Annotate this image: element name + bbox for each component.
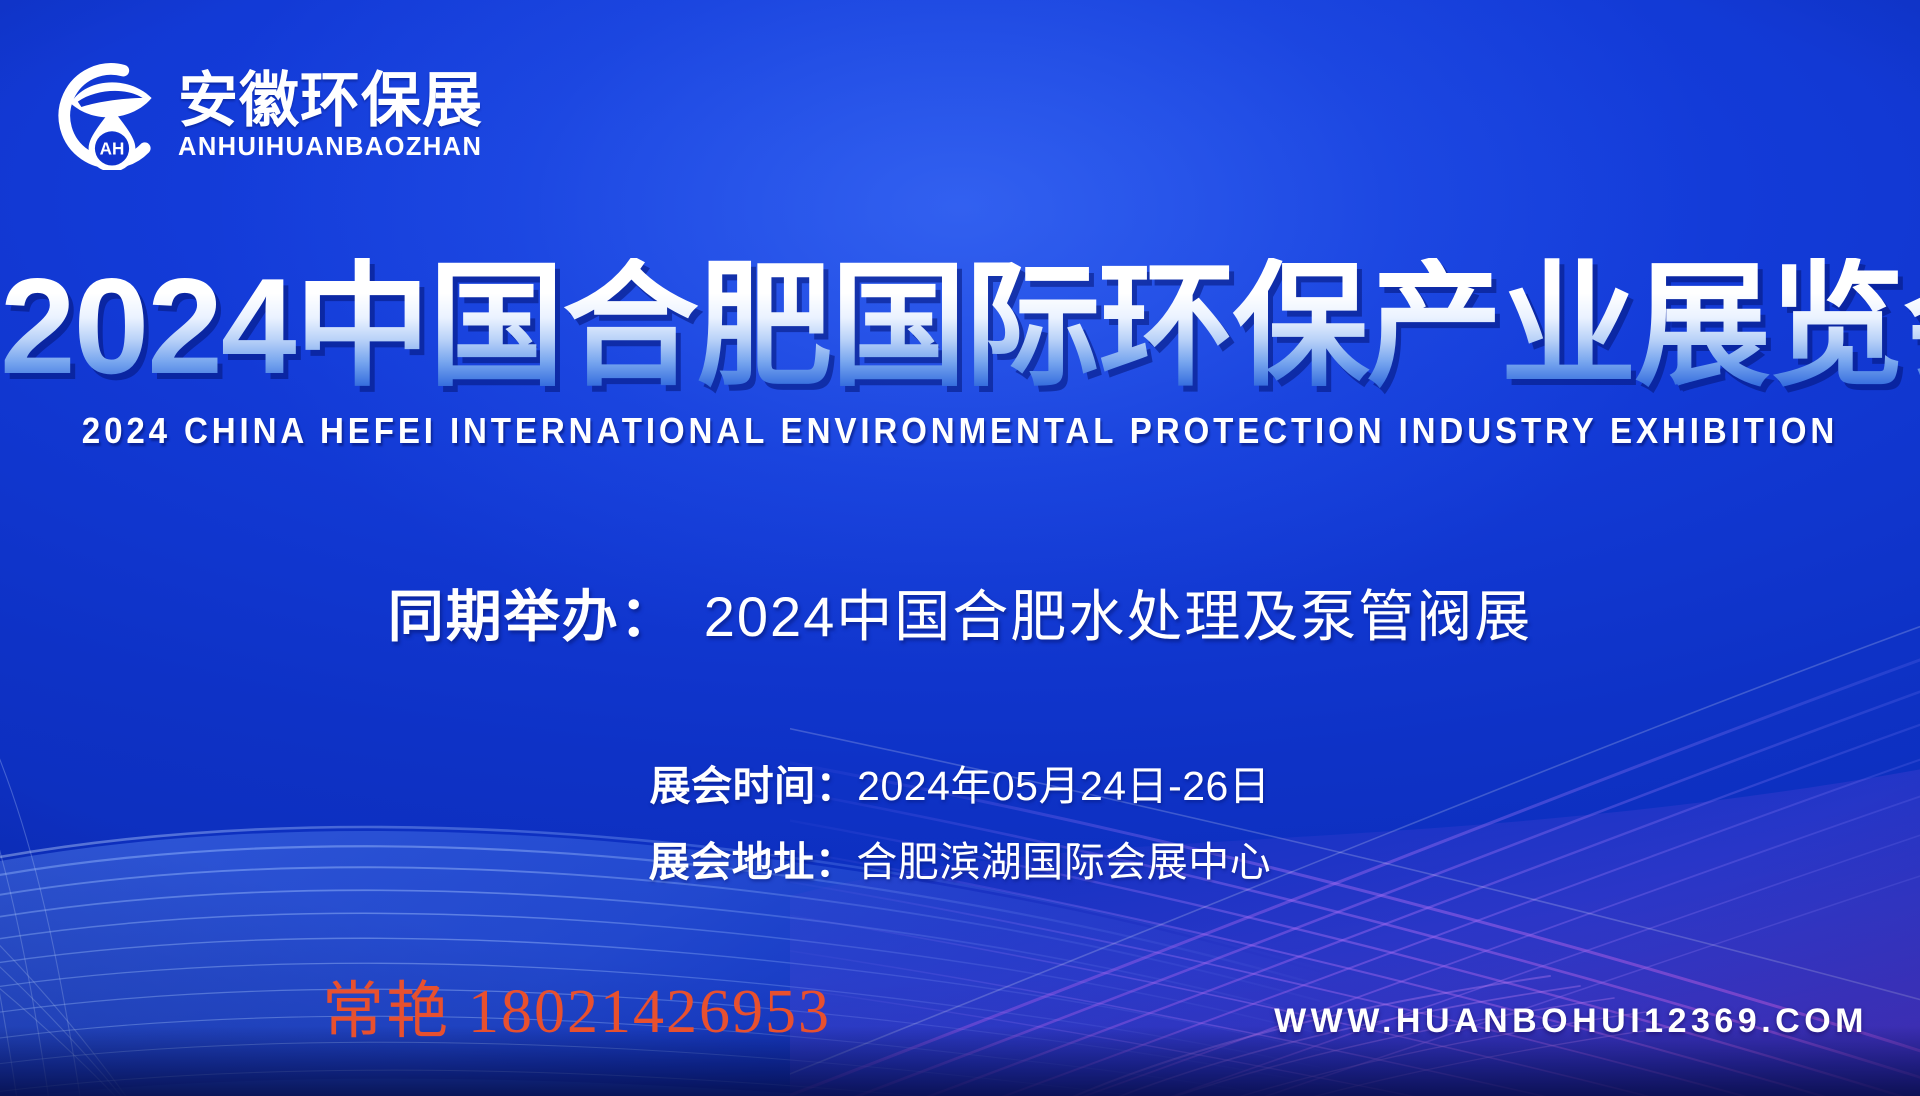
event-date-value: 2024年05月24日-26日 (857, 763, 1270, 809)
concurrent-event-value: 2024中国合肥水处理及泵管阀展 (704, 585, 1533, 648)
page-title-english: 2024 CHINA HEFEI INTERNATIONAL ENVIRONME… (77, 410, 1843, 452)
event-venue-value: 合肥滨湖国际会展中心 (856, 839, 1271, 885)
brand-name-pinyin: ANHUIHUANBAOZHAN (178, 135, 483, 161)
concurrent-event-label: 同期举办： (388, 585, 678, 648)
brand-logo-text: 安徽环保展 ANHUIHUANBAOZHAN (178, 71, 483, 161)
event-venue-label: 展会地址： (649, 839, 857, 885)
contact-info[interactable]: 常艳18021426953 (322, 960, 831, 1050)
event-date-row: 展会时间：2024年05月24日-26日 (0, 752, 1920, 812)
brand-name-cn: 安徽环保展 (178, 71, 483, 131)
exhibition-poster: AH 安徽环保展 ANHUIHUANBAOZHAN 2024中国合肥国际环保产业… (0, 0, 1920, 1096)
event-details: 展会时间：2024年05月24日-26日 展会地址：合肥滨湖国际会展中心 (0, 752, 1920, 904)
page-title: 2024中国合肥国际环保产业展览会 (0, 258, 1920, 394)
event-date-label: 展会时间： (650, 763, 858, 809)
event-venue-row: 展会地址：合肥滨湖国际会展中心 (0, 828, 1920, 888)
contact-phone: 18021426953 (468, 978, 831, 1046)
concurrent-event-line: 同期举办：2024中国合肥水处理及泵管阀展 (0, 572, 1920, 653)
contact-name: 常艳 (322, 977, 450, 1046)
brand-logo[interactable]: AH 安徽环保展 ANHUIHUANBAOZHAN (58, 62, 483, 170)
leaf-waterdrop-icon: AH (58, 62, 166, 170)
title-block: 2024中国合肥国际环保产业展览会 2024 CHINA HEFEI INTER… (0, 258, 1920, 452)
website-url[interactable]: WWW.HUANBOHUI12369.COM (1274, 1002, 1868, 1041)
svg-text:AH: AH (100, 140, 125, 159)
